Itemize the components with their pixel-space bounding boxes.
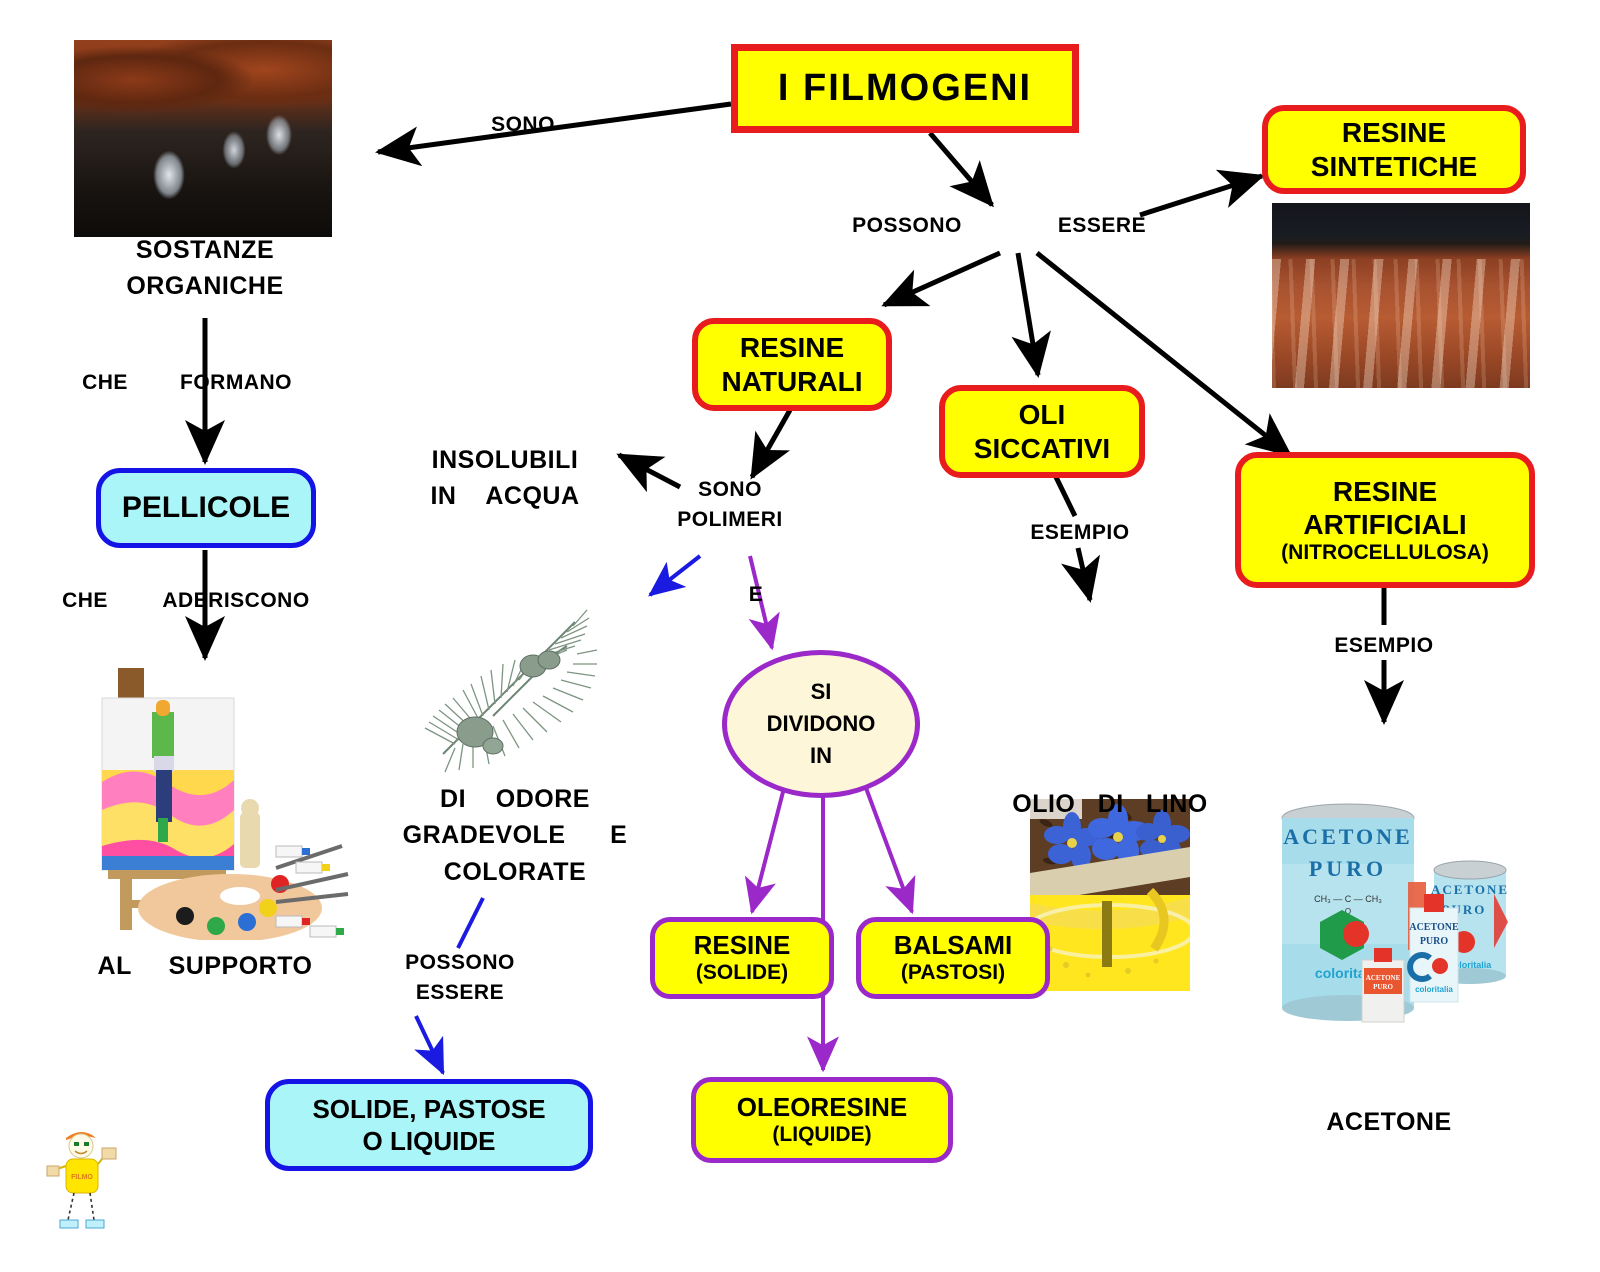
caption-di-odore-gradevole: DI ODORE GRADEVOLE E COLORATE bbox=[390, 781, 640, 890]
edge-oli-siccativi-to-esempio bbox=[1055, 475, 1075, 516]
node-resine-sintetiche[interactable]: RESINE SINTETICHE bbox=[1262, 105, 1526, 194]
oil-droplets-image bbox=[390, 252, 615, 442]
concept-map-canvas: ACETONE PURO CH₃ — C — CH₃ O coloritalia… bbox=[0, 0, 1600, 1272]
caption-al-supporto: AL SUPPORTO bbox=[70, 948, 340, 984]
node-oli-siccativi[interactable]: OLI SICCATIVI bbox=[939, 385, 1145, 478]
svg-text:ACETONE: ACETONE bbox=[1366, 974, 1401, 982]
node-si-dividono-line1: SI bbox=[811, 676, 832, 708]
svg-text:PURO: PURO bbox=[1309, 856, 1387, 881]
node-oli-siccativi-line2: SICCATIVI bbox=[974, 432, 1110, 465]
edge-hub-to-resine-sintetiche bbox=[1140, 176, 1262, 215]
svg-text:ACETONE: ACETONE bbox=[1409, 922, 1459, 933]
node-solide-pastose-line2: O LIQUIDE bbox=[363, 1125, 496, 1158]
link-label-esempio-artificiali: ESEMPIO bbox=[1304, 631, 1464, 661]
flax-linseed-oil-image bbox=[1030, 799, 1190, 991]
edge-odore-to-possono-essere bbox=[458, 898, 483, 948]
acetone-cans-image: ACETONE PURO CH₃ — C — CH₃ O coloritalia… bbox=[1264, 782, 1514, 1042]
node-resine-artificiali-sub: (NITROCELLULOSA) bbox=[1281, 541, 1489, 566]
node-resine-sintetiche-line1: RESINE bbox=[1342, 116, 1446, 149]
node-resine-artificiali-line2: ARTIFICIALI bbox=[1303, 508, 1466, 541]
caption-sostanze-organiche: SOSTANZE ORGANICHE bbox=[70, 232, 340, 305]
edge-si-dividono-to-resine bbox=[752, 788, 784, 912]
caption-olio-di-lino: OLIO DI LINO bbox=[985, 786, 1235, 822]
node-resine-naturali-line1: RESINE bbox=[740, 331, 844, 364]
node-balsami-sub: (PASTOSI) bbox=[901, 961, 1005, 986]
node-si-dividono-in[interactable]: SI DIVIDONO IN bbox=[722, 650, 920, 798]
svg-text:PURO: PURO bbox=[1373, 983, 1393, 991]
node-pellicole-label: PELLICOLE bbox=[122, 489, 290, 527]
edge-resine-naturali-to-polimeri bbox=[752, 410, 790, 477]
resin-droplets-image bbox=[74, 40, 332, 237]
easel-paints-image bbox=[80, 650, 355, 940]
node-i-filmogeni[interactable]: I FILMOGENI bbox=[731, 44, 1079, 133]
node-resine-solide[interactable]: RESINE (SOLIDE) bbox=[650, 917, 834, 999]
caption-acetone: ACETONE bbox=[1269, 1104, 1509, 1140]
node-oleoresine-sub: (LIQUIDE) bbox=[772, 1123, 871, 1148]
node-oleoresine[interactable]: OLEORESINE (LIQUIDE) bbox=[691, 1077, 953, 1163]
link-label-che-formano-2: FORMANO bbox=[156, 368, 316, 398]
link-label-che-aderiscono-1: CHE bbox=[40, 586, 130, 616]
caption-insolubili-in-acqua: INSOLUBILI IN ACQUA bbox=[400, 442, 610, 515]
node-resine-artificiali-line1: RESINE bbox=[1333, 475, 1437, 508]
link-label-e: E bbox=[736, 580, 776, 610]
link-label-sono: SONO bbox=[458, 110, 588, 140]
node-oli-siccativi-line1: OLI bbox=[1019, 398, 1066, 431]
node-balsami-label: BALSAMI bbox=[894, 930, 1012, 961]
resin-floor-image bbox=[1272, 203, 1530, 388]
edge-filmogeni-to-hub bbox=[930, 133, 992, 205]
svg-text:coloritalia: coloritalia bbox=[1415, 985, 1453, 994]
node-solide-pastose-line1: SOLIDE, PASTOSE bbox=[312, 1093, 545, 1126]
link-label-possono-essere: POSSONO ESSERE bbox=[370, 948, 550, 1009]
edge-hub-to-resine-naturali bbox=[884, 253, 1000, 305]
node-si-dividono-line3: IN bbox=[810, 740, 832, 772]
link-label-esempio-oli: ESEMPIO bbox=[1000, 518, 1160, 548]
edge-possono-essere-to-solide bbox=[416, 1016, 443, 1073]
edge-polimeri-to-odore bbox=[650, 556, 700, 595]
pine-branch-image bbox=[415, 576, 615, 776]
edge-hub-to-oli-siccativi bbox=[1018, 253, 1038, 375]
edge-si-dividono-to-balsami bbox=[866, 788, 912, 912]
link-label-che-aderiscono-2: ADERISCONO bbox=[130, 586, 342, 616]
node-resine-sintetiche-line2: SINTETICHE bbox=[1311, 150, 1477, 183]
node-resine-naturali-line2: NATURALI bbox=[721, 365, 862, 398]
node-balsami[interactable]: BALSAMI (PASTOSI) bbox=[856, 917, 1050, 999]
node-pellicole[interactable]: PELLICOLE bbox=[96, 468, 316, 548]
mascot-figure: FILMO bbox=[44, 1122, 124, 1232]
node-solide-pastose-liquide[interactable]: SOLIDE, PASTOSE O LIQUIDE bbox=[265, 1079, 593, 1171]
svg-text:PURO: PURO bbox=[1420, 936, 1449, 947]
node-resine-artificiali[interactable]: RESINE ARTIFICIALI (NITROCELLULOSA) bbox=[1235, 452, 1535, 588]
node-resine-naturali[interactable]: RESINE NATURALI bbox=[692, 318, 892, 411]
svg-text:FILMO: FILMO bbox=[71, 1174, 93, 1181]
node-oleoresine-label: OLEORESINE bbox=[737, 1092, 907, 1123]
link-label-sono-polimeri: SONO POLIMERI bbox=[655, 475, 805, 536]
node-resine-solide-sub: (SOLIDE) bbox=[696, 961, 788, 986]
svg-text:CH₃ — C — CH₃: CH₃ — C — CH₃ bbox=[1314, 894, 1382, 904]
node-resine-solide-label: RESINE bbox=[694, 930, 791, 961]
node-si-dividono-line2: DIVIDONO bbox=[767, 708, 876, 740]
link-label-possono: POSSONO bbox=[812, 211, 1002, 241]
link-label-che-formano-1: CHE bbox=[60, 368, 150, 398]
svg-text:ACETONE: ACETONE bbox=[1283, 824, 1412, 849]
link-label-essere: ESSERE bbox=[1022, 211, 1182, 241]
edge-esempio-to-olio-lino bbox=[1078, 548, 1090, 600]
